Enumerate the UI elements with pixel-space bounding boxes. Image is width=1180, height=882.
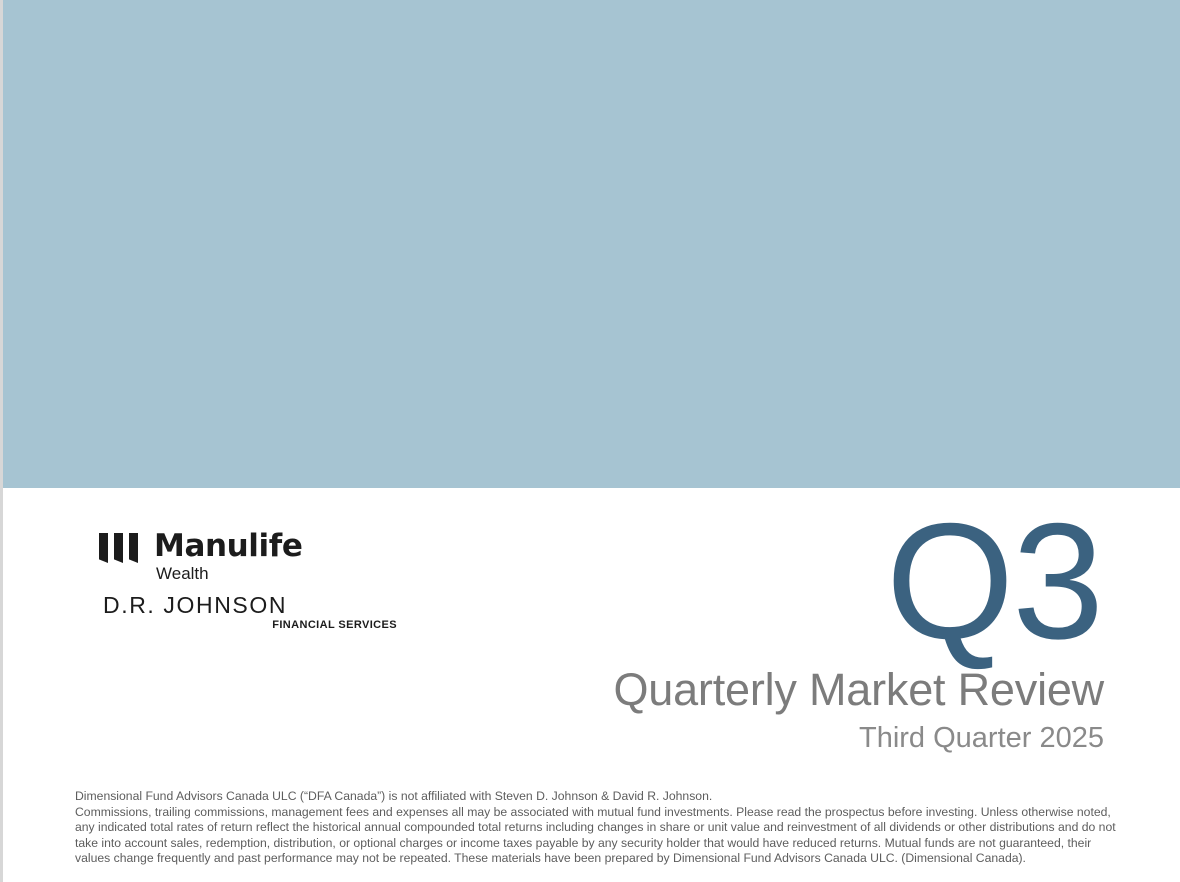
branding-block: Manulife Wealth D.R. JOHNSON FINANCIAL S… — [99, 530, 399, 632]
title-block: Q3 Quarterly Market Review Third Quarter… — [613, 506, 1104, 756]
advisor-logo: D.R. JOHNSON FINANCIAL SERVICES — [103, 593, 399, 632]
page-title: Quarterly Market Review — [613, 664, 1104, 716]
disclaimer-line-affiliation: Dimensional Fund Advisors Canada ULC (“D… — [75, 789, 1121, 804]
manulife-name: Manulife — [154, 530, 302, 563]
quarter-badge: Q3 — [613, 506, 1102, 656]
advisor-tagline: FINANCIAL SERVICES — [272, 619, 397, 632]
manulife-wordmark: Manulife Wealth — [154, 530, 302, 584]
disclaimer-line-commissions: Commissions, trailing commissions, manag… — [75, 805, 1121, 866]
cover-slide: Manulife Wealth D.R. JOHNSON FINANCIAL S… — [0, 0, 1180, 882]
manulife-bars-icon — [99, 533, 138, 563]
advisor-name: D.R. JOHNSON — [103, 593, 287, 618]
manulife-logo: Manulife Wealth — [99, 530, 399, 584]
page-subtitle: Third Quarter 2025 — [613, 720, 1104, 756]
disclaimer-block: Dimensional Fund Advisors Canada ULC (“D… — [75, 789, 1121, 866]
cover-color-band — [3, 0, 1180, 488]
manulife-division-label: Wealth — [156, 564, 209, 584]
